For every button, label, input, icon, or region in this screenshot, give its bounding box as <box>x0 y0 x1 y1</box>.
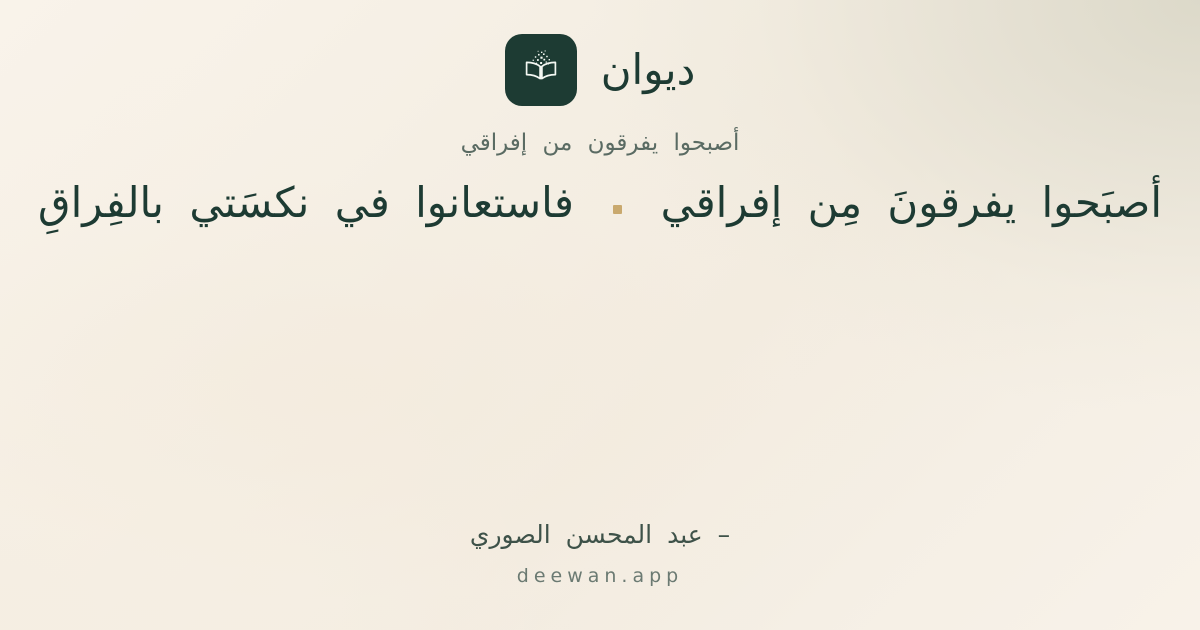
dot-separator-icon <box>613 205 622 214</box>
poetry-share-card: ديوان أصبحوا يفرقون من إفراقي أصبَحوا يف… <box>0 0 1200 630</box>
site-url: deewan.app <box>517 567 683 586</box>
brand-header: ديوان <box>505 34 696 106</box>
poet-attribution: – عبد المحسن الصوري <box>470 519 730 552</box>
verse-subtitle: أصبحوا يفرقون من إفراقي <box>461 128 740 159</box>
open-book-sparkles-icon <box>505 34 577 106</box>
card-footer: – عبد المحسن الصوري deewan.app <box>0 519 1200 587</box>
verse-line: أصبَحوا يفرقونَ مِن إفراقي فاستعانوا في … <box>20 171 1180 234</box>
verse-hemistich-right: أصبَحوا يفرقونَ مِن إفراقي <box>661 171 1180 234</box>
verse-hemistich-left: فاستعانوا في نكسَتي بالفِراقِ <box>20 171 574 234</box>
brand-name: ديوان <box>601 49 696 91</box>
